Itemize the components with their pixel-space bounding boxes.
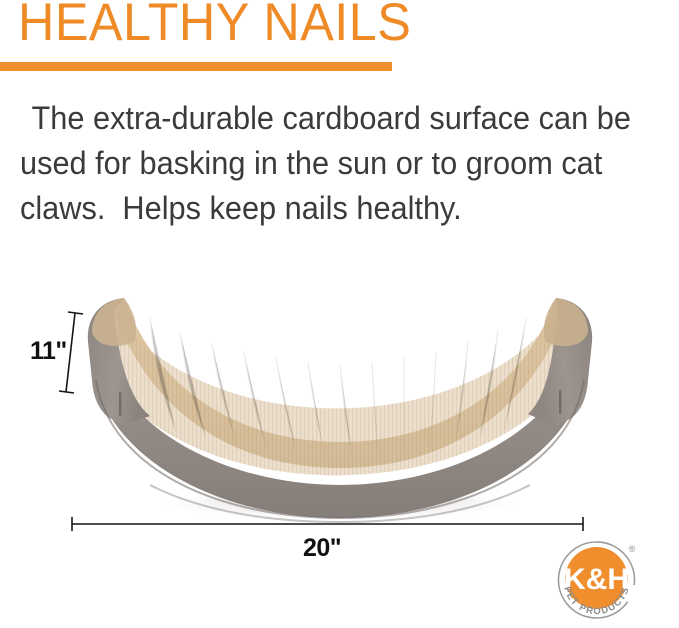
dimension-height-label: 11"	[30, 337, 67, 366]
product-infographic: HEALTHY NAILS The extra-durable cardboar…	[0, 0, 679, 628]
product-right-notch	[559, 390, 561, 414]
product-left-endcap-top-edge	[92, 298, 136, 346]
page-title: HEALTHY NAILS	[18, 0, 411, 54]
logo-registered-mark: ®	[629, 544, 636, 554]
title-underline-rule	[0, 62, 392, 71]
brand-logo: K&H ® PET PRODUCTS	[549, 533, 644, 628]
description-paragraph: The extra-durable cardboard surface can …	[20, 96, 642, 231]
dimension-width-label: 20"	[303, 534, 341, 563]
product-image	[0, 270, 679, 550]
logo-wordmark: K&H	[564, 563, 629, 596]
product-right-endcap-top-edge	[544, 298, 588, 346]
product-left-notch	[119, 392, 121, 416]
